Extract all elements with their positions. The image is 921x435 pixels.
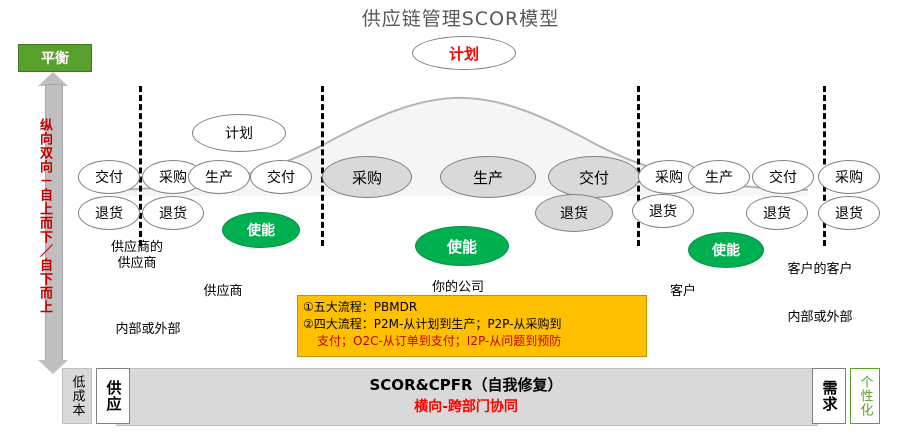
stage-label-supplier: 供应商 [178,284,268,300]
node-plan-supplier[interactable]: 计划 [192,114,286,152]
process-note-box: ①五大流程：PBMDR ②四大流程：P2M-从计划到生产；P2P-从采购到 支付… [297,295,647,357]
node-source-2[interactable]: 采购 [322,156,412,198]
node-make-1[interactable]: 生产 [188,160,250,194]
vertical-arrow-text: 纵向双向－自上而下／自下而上 [34,86,52,346]
node-return-4[interactable]: 退货 [632,194,694,228]
personalize-label: 个性化 [850,368,880,424]
node-deliver-4[interactable]: 交付 [752,160,814,194]
stage-label-suppliers-supplier: 供应商的 供应商 [82,240,192,272]
node-enable-3[interactable]: 使能 [688,232,764,268]
horizontal-double-arrow-bar: SCOR&CPFR（自我修复） 横向-跨部门协同 [96,368,836,424]
boundary-label-right: 内部或外部 [760,310,880,326]
bottom-bar-line-2: 横向-跨部门协同 [96,396,836,416]
node-plan-top[interactable]: 计划 [412,36,516,70]
page-title: 供应链管理SCOR模型 [0,4,921,31]
stage-label-customers-customer: 客户的客户 [760,262,880,278]
stage-divider-2 [321,86,324,246]
node-return-6[interactable]: 退货 [818,196,880,230]
note-line-2: ②四大流程：P2M-从计划到生产；P2P-从采购到 [303,316,641,333]
node-deliver-2[interactable]: 交付 [250,160,312,194]
node-enable-2[interactable]: 使能 [415,226,509,266]
supply-label: 供应 [96,368,130,424]
balance-label-box: 平衡 [18,44,92,72]
node-return-2[interactable]: 退货 [142,196,204,230]
node-make-3[interactable]: 生产 [688,160,750,194]
node-enable-1[interactable]: 使能 [222,212,300,248]
boundary-label-left: 内部或外部 [88,322,208,338]
node-deliver-1[interactable]: 交付 [78,160,140,194]
low-cost-label: 低成本 [62,368,92,424]
node-source-4[interactable]: 采购 [818,160,880,194]
stage-label-customer: 客户 [648,284,718,300]
node-return-5[interactable]: 退货 [746,196,808,230]
node-deliver-3[interactable]: 交付 [548,156,640,198]
note-line-1: ①五大流程：PBMDR [303,299,641,316]
node-make-2[interactable]: 生产 [440,156,536,198]
demand-label: 需求 [812,368,846,424]
node-return-1[interactable]: 退货 [78,196,140,230]
node-return-3[interactable]: 退货 [535,194,613,232]
stage-divider-1 [139,86,142,246]
bottom-bar-line-1: SCOR&CPFR（自我修复） [96,374,836,395]
stage-label-your-company: 你的公司 [403,280,513,296]
note-line-3: 支付；O2C-从订单到支付；I2P-从问题到预防 [303,333,641,350]
